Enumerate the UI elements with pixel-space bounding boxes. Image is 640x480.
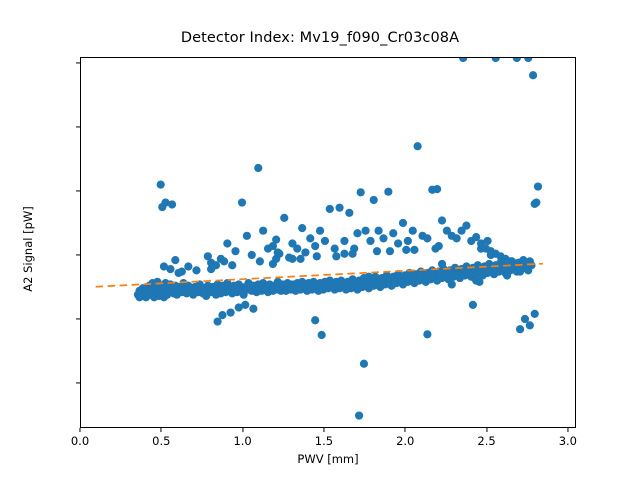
scatter-point	[157, 181, 165, 189]
x-tick-label: 0.0	[71, 434, 89, 448]
x-tick-label: 1.0	[233, 434, 251, 448]
scatter-point	[184, 262, 192, 270]
scatter-point	[477, 245, 485, 253]
y-tick-mark	[76, 383, 80, 384]
scatter-point	[469, 301, 477, 309]
scatter-point	[366, 237, 374, 245]
scatter-point	[306, 234, 314, 242]
x-tick-mark	[486, 428, 487, 432]
scatter-point	[414, 142, 422, 150]
scatter-point	[409, 227, 417, 235]
y-tick-mark	[76, 63, 80, 64]
matplotlib-figure: Detector Index: Mv19_f090_Cr03c08A 0.001…	[0, 0, 640, 480]
scatter-point	[361, 227, 369, 235]
scatter-point	[227, 308, 235, 316]
x-tick-mark	[567, 428, 568, 432]
scatter-point	[332, 252, 340, 260]
scatter-point	[389, 229, 397, 237]
scatter-point	[348, 250, 356, 258]
scatter-point	[254, 164, 262, 172]
scatter-point	[487, 251, 495, 259]
scatter-point	[168, 200, 176, 208]
scatter-point	[340, 237, 348, 245]
scatter-point	[158, 203, 166, 211]
scatter-point	[231, 247, 239, 255]
scatter-point	[379, 234, 387, 242]
scatter-point	[311, 242, 319, 250]
scatter-point	[375, 227, 383, 235]
scatter-point	[313, 252, 321, 260]
x-tick-label: 3.0	[559, 434, 577, 448]
scatter-point	[404, 237, 412, 245]
scatter-point	[335, 204, 343, 212]
scatter-point	[220, 257, 228, 265]
x-tick-label: 1.5	[315, 434, 333, 448]
scatter-point	[448, 280, 456, 288]
scatter-point	[423, 275, 431, 283]
scatter-point	[293, 245, 301, 253]
scatter-point	[178, 268, 186, 276]
scatter-point	[321, 237, 329, 245]
scatter-point	[483, 237, 491, 245]
scatter-point	[513, 58, 521, 62]
scatter-point	[241, 301, 249, 309]
scatter-point	[171, 256, 179, 264]
scatter-point	[357, 188, 365, 196]
scatter-point	[410, 246, 418, 254]
scatter-point	[462, 221, 470, 229]
scatter-point	[316, 227, 324, 235]
scatter-point	[431, 245, 439, 253]
x-tick-label: 0.5	[152, 434, 170, 448]
scatter-point	[298, 224, 306, 232]
scatter-point	[345, 209, 353, 217]
scatter-point	[318, 331, 326, 339]
x-tick-label: 2.5	[477, 434, 495, 448]
scatter-point	[365, 273, 373, 281]
scatter-point	[516, 325, 524, 333]
scatter-point	[353, 229, 361, 237]
scatter-point	[532, 198, 540, 206]
scatter-point	[207, 265, 215, 273]
y-tick-mark	[76, 127, 80, 128]
scatter-point	[249, 305, 257, 313]
scatter-point	[274, 248, 282, 256]
scatter-point	[534, 182, 542, 190]
page-title: Detector Index: Mv19_f090_Cr03c08A	[0, 30, 640, 46]
scatter-point	[459, 58, 467, 62]
scatter-point	[453, 270, 461, 278]
x-tick-mark	[242, 428, 243, 432]
scatter-point	[394, 239, 402, 247]
scatter-point	[331, 245, 339, 253]
scatter-point	[280, 214, 288, 222]
scatter-point	[453, 234, 461, 242]
scatter-point	[433, 185, 441, 193]
scatter-point	[402, 246, 410, 254]
scatter-point	[218, 311, 226, 319]
scatter-point	[373, 247, 381, 255]
y-tick-mark	[76, 319, 80, 320]
scatter-point	[531, 310, 539, 318]
scatter-point	[370, 196, 378, 204]
scatter-point	[223, 239, 231, 247]
scatter-point	[360, 360, 368, 368]
x-tick-label: 2.0	[396, 434, 414, 448]
scatter-point	[192, 266, 200, 274]
scatter-point	[311, 316, 319, 324]
scatter-point	[259, 227, 267, 235]
scatter-point	[326, 205, 334, 213]
scatter-point	[166, 265, 174, 273]
scatter-point	[386, 247, 394, 255]
scatter-point	[296, 255, 304, 263]
scatter-point	[340, 250, 348, 258]
scatter-point	[438, 216, 446, 224]
y-tick-mark	[76, 255, 80, 256]
x-tick-mark	[161, 428, 162, 432]
x-axis-label: PWV [mm]	[80, 452, 576, 466]
scatter-point	[384, 188, 392, 196]
scatter-point	[391, 278, 399, 286]
scatter-point	[288, 255, 296, 263]
y-tick-mark	[76, 191, 80, 192]
plot-axes	[80, 57, 576, 428]
y-axis-label: A2 Signal [pW]	[21, 129, 35, 369]
scatter-point	[228, 261, 236, 269]
scatter-point	[503, 271, 511, 279]
scatter-point	[524, 58, 532, 62]
scatter-point	[248, 251, 256, 259]
scatter-point	[243, 232, 251, 240]
x-tick-mark	[405, 428, 406, 432]
scatter-point	[399, 219, 407, 227]
scatter-point	[526, 321, 534, 329]
scatter-point	[516, 268, 524, 276]
scatter-point	[472, 277, 480, 285]
scatter-point	[529, 71, 537, 79]
x-tick-mark	[323, 428, 324, 432]
scatter-point	[423, 234, 431, 242]
scatter-point	[272, 236, 280, 244]
scatter-point	[355, 411, 363, 419]
scatter-point	[256, 257, 264, 265]
scatter-point	[511, 260, 519, 268]
scatter-plot-canvas	[81, 58, 577, 429]
scatter-point	[269, 260, 277, 268]
scatter-points-layer	[134, 58, 542, 420]
scatter-point	[438, 260, 446, 268]
scatter-point	[423, 330, 431, 338]
scatter-point	[492, 58, 500, 62]
scatter-point	[238, 198, 246, 206]
x-tick-mark	[79, 428, 80, 432]
